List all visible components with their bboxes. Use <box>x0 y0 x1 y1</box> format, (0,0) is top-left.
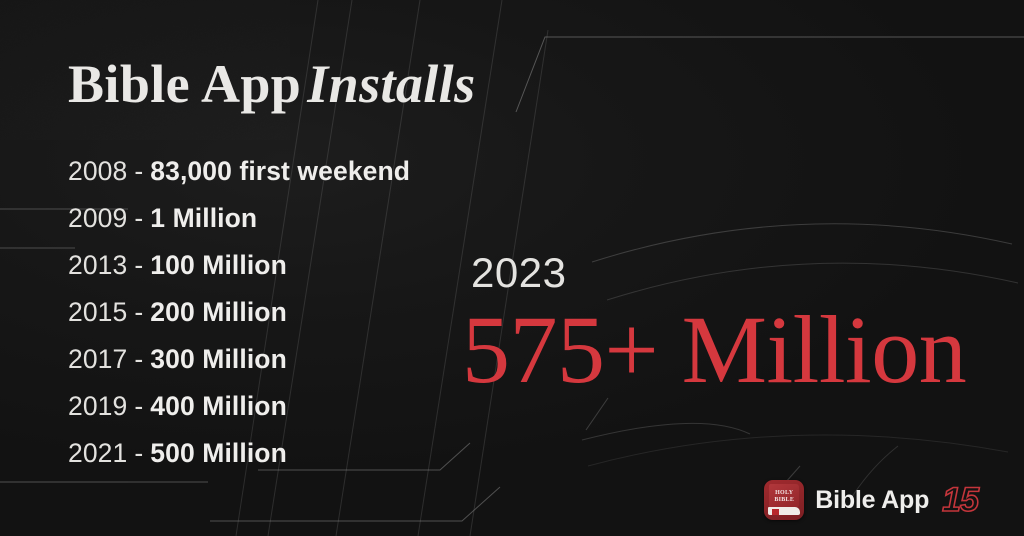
list-item: 2017 - 300 Million <box>68 344 498 391</box>
timeline-dash: - <box>127 156 150 187</box>
timeline-value: 500 Million <box>150 438 287 469</box>
feature-year-label: 2023 <box>471 249 566 297</box>
timeline-value: 83,000 first weekend <box>150 156 410 187</box>
logo-wordmark: Bible App <box>815 486 929 515</box>
infographic-canvas: Bible AppInstalls 2008 - 83,000 first we… <box>0 0 1024 536</box>
list-item: 2015 - 200 Million <box>68 297 498 344</box>
timeline-dash: - <box>127 438 150 469</box>
timeline-year: 2021 <box>68 438 127 469</box>
list-item: 2021 - 500 Million <box>68 438 498 485</box>
list-item: 2013 - 100 Million <box>68 250 498 297</box>
installs-timeline-list: 2008 - 83,000 first weekend 2009 - 1 Mil… <box>68 156 498 485</box>
timeline-dash: - <box>127 297 150 328</box>
timeline-year: 2008 <box>68 156 127 187</box>
list-item: 2008 - 83,000 first weekend <box>68 156 498 203</box>
timeline-value: 200 Million <box>150 297 287 328</box>
timeline-dash: - <box>127 391 150 422</box>
timeline-year: 2009 <box>68 203 127 234</box>
icon-text-bible: BIBLE <box>774 497 794 503</box>
list-item: 2019 - 400 Million <box>68 391 498 438</box>
timeline-dash: - <box>127 203 150 234</box>
title-italic: Installs <box>301 54 475 114</box>
feature-install-count: 575+ Million <box>462 302 966 398</box>
book-cover-icon: HOLY BIBLE <box>769 484 799 508</box>
timeline-year: 2017 <box>68 344 127 375</box>
bible-app-logo-lockup: HOLY BIBLE Bible App 15 <box>764 476 978 524</box>
timeline-value: 400 Million <box>150 391 287 422</box>
book-bookmark-icon <box>772 509 779 515</box>
bible-app-icon: HOLY BIBLE <box>764 480 804 520</box>
timeline-year: 2013 <box>68 250 127 281</box>
timeline-dash: - <box>127 344 150 375</box>
title-regular: Bible App <box>68 54 301 114</box>
page-title: Bible AppInstalls <box>68 57 476 111</box>
timeline-dash: - <box>127 250 150 281</box>
timeline-year: 2015 <box>68 297 127 328</box>
timeline-value: 300 Million <box>150 344 287 375</box>
timeline-value: 100 Million <box>150 250 287 281</box>
timeline-year: 2019 <box>68 391 127 422</box>
timeline-value: 1 Million <box>150 203 257 234</box>
list-item: 2009 - 1 Million <box>68 203 498 250</box>
icon-text-holy: HOLY <box>775 490 793 496</box>
anniversary-badge-15: 15 <box>942 483 978 517</box>
